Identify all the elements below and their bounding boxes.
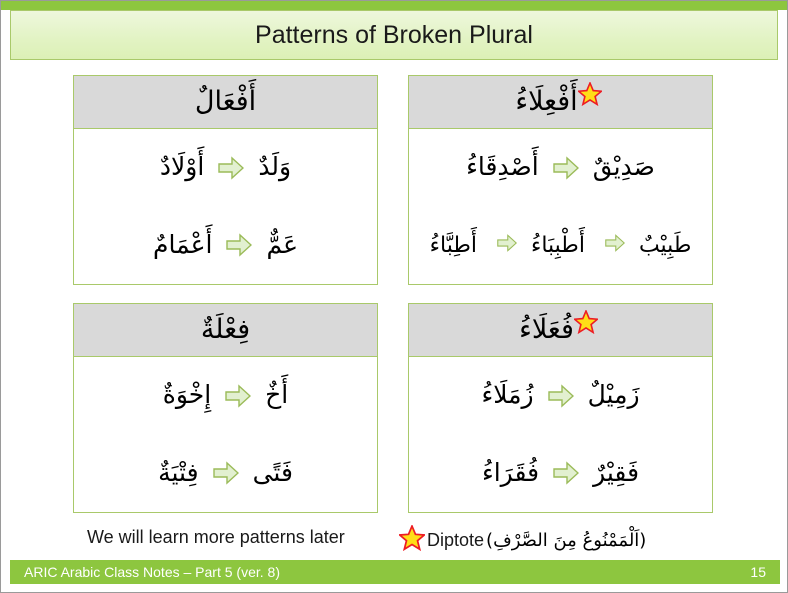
arrow-right-icon	[218, 156, 244, 180]
singular-word: وَلَدٌ	[258, 153, 291, 182]
pattern-label-4: فُعَلَاءُ	[519, 315, 574, 345]
pattern-table-4: فُعَلَاءُ زَمِيْلٌ زُمَلَاءُ فَقِيْرٌ	[408, 303, 713, 513]
table-row: عَمٌّ أَعْمَامٌ	[74, 207, 377, 285]
pattern-table-1: أَفْعَالٌ وَلَدٌ أَوْلَادٌ عَمٌّ أَعْمَا…	[73, 75, 378, 285]
table-row: زَمِيْلٌ زُمَلَاءُ	[409, 357, 712, 435]
singular-word: زَمِيْلٌ	[588, 381, 640, 410]
plural-word: أَوْلَادٌ	[160, 153, 204, 182]
intermediate-word: أَطْبِبَاءُ	[531, 233, 585, 258]
table-row: أَخٌ إِخْوَةٌ	[74, 357, 377, 435]
pattern-tables-grid: أَفْعَالٌ وَلَدٌ أَوْلَادٌ عَمٌّ أَعْمَا…	[73, 75, 713, 513]
arrow-right-icon	[225, 384, 251, 408]
status-bar: ARIC Arabic Class Notes – Part 5 (ver. 8…	[10, 560, 780, 584]
singular-word: أَخٌ	[265, 381, 288, 410]
singular-word: طَبِيْبٌ	[639, 233, 691, 258]
pattern-label-3: فِعْلَةٌ	[201, 315, 250, 345]
plural-word: أَصْدِقَاءُ	[466, 153, 539, 182]
diptote-legend: Diptote (اَلْمَمْنُوعُ مِنَ الصَّرْفِ)	[399, 525, 646, 556]
arrow-right-icon	[548, 384, 574, 408]
status-source: ARIC Arabic Class Notes – Part 5 (ver. 8…	[24, 564, 280, 580]
pattern-table-3-body: أَخٌ إِخْوَةٌ فَتًى فِتْيَةٌ	[74, 357, 377, 512]
slide: Patterns of Broken Plural أَفْعَالٌ وَلَ…	[0, 0, 788, 593]
singular-word: فَتًى	[253, 459, 293, 488]
plural-word: أَطِبَّاءُ	[430, 233, 477, 258]
slide-title-bar: Patterns of Broken Plural	[10, 10, 778, 60]
top-accent-band	[1, 1, 788, 10]
diptote-star-icon	[399, 525, 425, 556]
pattern-table-4-header: فُعَلَاءُ	[409, 304, 712, 357]
pattern-table-3: فِعْلَةٌ أَخٌ إِخْوَةٌ فَتًى فِتْيَةٌ	[73, 303, 378, 513]
singular-word: صَدِيْقٌ	[593, 153, 655, 182]
pattern-table-3-header: فِعْلَةٌ	[74, 304, 377, 357]
plural-word: زُمَلَاءُ	[481, 381, 533, 410]
arrow-right-icon	[491, 233, 517, 257]
singular-word: فَقِيْرٌ	[593, 459, 639, 488]
table-row: وَلَدٌ أَوْلَادٌ	[74, 129, 377, 207]
page-title: Patterns of Broken Plural	[255, 21, 533, 50]
plural-word: فِتْيَةٌ	[158, 459, 198, 488]
pattern-table-1-header: أَفْعَالٌ	[74, 76, 377, 129]
diptote-arabic-label: (اَلْمَمْنُوعُ مِنَ الصَّرْفِ)	[486, 530, 646, 551]
pattern-table-2: أَفْعِلَاءُ صَدِيْقٌ أَصْدِقَاءُ طَبِيْب…	[408, 75, 713, 285]
plural-word: فُقَرَاءُ	[482, 459, 539, 488]
table-row: فَقِيْرٌ فُقَرَاءُ	[409, 435, 712, 513]
pattern-table-1-body: وَلَدٌ أَوْلَادٌ عَمٌّ أَعْمَامٌ	[74, 129, 377, 284]
pattern-table-2-body: صَدِيْقٌ أَصْدِقَاءُ طَبِيْبٌ أَطْبِبَاء…	[409, 129, 712, 284]
arrow-right-icon	[213, 461, 239, 485]
diptote-star-icon	[578, 82, 602, 111]
singular-word: عَمٌّ	[266, 231, 298, 260]
pattern-label-2: أَفْعِلَاءُ	[515, 87, 577, 117]
table-row: طَبِيْبٌ أَطْبِبَاءُ أَطِبَّاءُ	[409, 207, 712, 285]
pattern-table-4-body: زَمِيْلٌ زُمَلَاءُ فَقِيْرٌ فُقَرَاءُ	[409, 357, 712, 512]
arrow-right-icon	[553, 461, 579, 485]
table-row: صَدِيْقٌ أَصْدِقَاءُ	[409, 129, 712, 207]
diptote-star-icon	[574, 310, 598, 339]
pattern-table-2-header: أَفْعِلَاءُ	[409, 76, 712, 129]
arrow-right-icon	[226, 233, 252, 257]
pattern-label-1: أَفْعَالٌ	[195, 87, 256, 117]
plural-word: أَعْمَامٌ	[153, 231, 212, 260]
plural-word: إِخْوَةٌ	[163, 381, 211, 410]
page-number: 15	[750, 564, 766, 580]
note-more-patterns: We will learn more patterns later	[87, 527, 345, 548]
arrow-right-icon	[599, 233, 625, 257]
table-row: فَتًى فِتْيَةٌ	[74, 435, 377, 513]
arrow-right-icon	[553, 156, 579, 180]
diptote-label: Diptote	[427, 530, 484, 551]
